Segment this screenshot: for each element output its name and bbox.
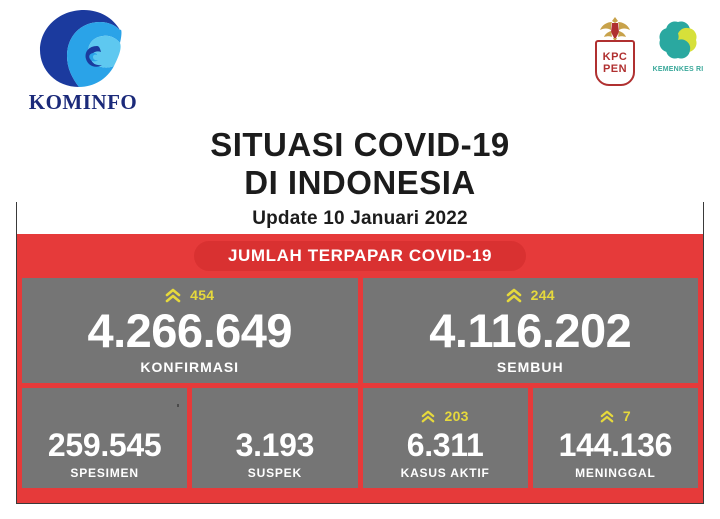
title-line-1: SITUASI COVID-19	[0, 126, 720, 164]
chevron-double-up-icon	[600, 410, 614, 423]
covid-situation-infographic: KOMINFO KPC PEN	[0, 0, 720, 519]
delta-value-meninggal: 7	[623, 408, 631, 424]
kemenkes-wordmark: KEMENKES RI	[650, 66, 706, 73]
primary-stats-row: 454 4.266.649 KONFIRMASI 244 4.116.202 S…	[22, 278, 698, 383]
partner-logos: KPC PEN KEMENKES RI	[592, 14, 706, 100]
delta-value-sembuh: 244	[531, 287, 555, 303]
stat-value-sembuh: 4.116.202	[429, 306, 631, 356]
kemenkes-logo: KEMENKES RI	[650, 14, 706, 94]
garuda-eagle-icon	[599, 14, 631, 42]
delta-meninggal: 7	[600, 406, 631, 426]
kpcpen-line1: KPC	[603, 52, 628, 63]
stat-value-meninggal: 144.136	[559, 427, 673, 463]
chevron-double-up-icon	[165, 288, 181, 303]
update-date: Update 10 Januari 2022	[0, 208, 720, 230]
stat-label-meninggal: MENINGGAL	[575, 466, 656, 480]
speck-artifact	[177, 404, 179, 407]
stat-card-suspek: 3.193 SUSPEK	[192, 388, 357, 488]
delta-konfirmasi: 454	[165, 285, 214, 305]
banner-label: JUMLAH TERPAPAR COVID-19	[194, 241, 526, 271]
stat-label-spesimen: SPESIMEN	[70, 466, 138, 480]
kominfo-logo: KOMINFO	[18, 8, 148, 116]
kominfo-wave-icon	[34, 8, 134, 90]
delta-kasus-aktif: 203	[421, 406, 468, 426]
title-line-2: DI INDONESIA	[0, 164, 720, 202]
stat-value-konfirmasi: 4.266.649	[87, 306, 292, 356]
kpcpen-logo: KPC PEN	[592, 14, 638, 94]
chevron-double-up-icon	[506, 288, 522, 303]
delta-sembuh: 244	[506, 285, 555, 305]
kpcpen-line2: PEN	[603, 64, 627, 75]
banner: JUMLAH TERPAPAR COVID-19	[17, 234, 703, 278]
chevron-double-up-icon	[421, 410, 435, 423]
stat-label-sembuh: SEMBUH	[497, 359, 564, 375]
stat-label-kasus-aktif: KASUS AKTIF	[401, 466, 490, 480]
kpcpen-shield: KPC PEN	[595, 40, 635, 86]
stat-value-suspek: 3.193	[236, 427, 315, 463]
stat-card-konfirmasi: 454 4.266.649 KONFIRMASI	[22, 278, 358, 383]
secondary-stats-row: 259.545 SPESIMEN 3.193 SUSPEK	[22, 388, 698, 488]
stat-card-meninggal: 7 144.136 MENINGGAL	[533, 388, 698, 488]
stat-label-konfirmasi: KONFIRMASI	[140, 359, 239, 375]
delta-value-kasus-aktif: 203	[444, 408, 468, 424]
stat-card-sembuh: 244 4.116.202 SEMBUH	[363, 278, 699, 383]
stat-card-spesimen: 259.545 SPESIMEN	[22, 388, 187, 488]
kemenkes-flower-icon	[656, 18, 700, 62]
stat-label-suspek: SUSPEK	[248, 466, 302, 480]
stat-value-spesimen: 259.545	[48, 427, 162, 463]
title-block: SITUASI COVID-19 DI INDONESIA Update 10 …	[0, 126, 720, 230]
stat-value-kasus-aktif: 6.311	[407, 427, 484, 463]
stat-card-kasus-aktif: 203 6.311 KASUS AKTIF	[363, 388, 528, 488]
delta-value-konfirmasi: 454	[190, 287, 214, 303]
kominfo-wordmark: KOMINFO	[18, 90, 148, 115]
stats-panel: JUMLAH TERPAPAR COVID-19 454 4.266.649 K…	[17, 234, 703, 503]
header-logo-strip: KOMINFO KPC PEN	[0, 0, 720, 120]
